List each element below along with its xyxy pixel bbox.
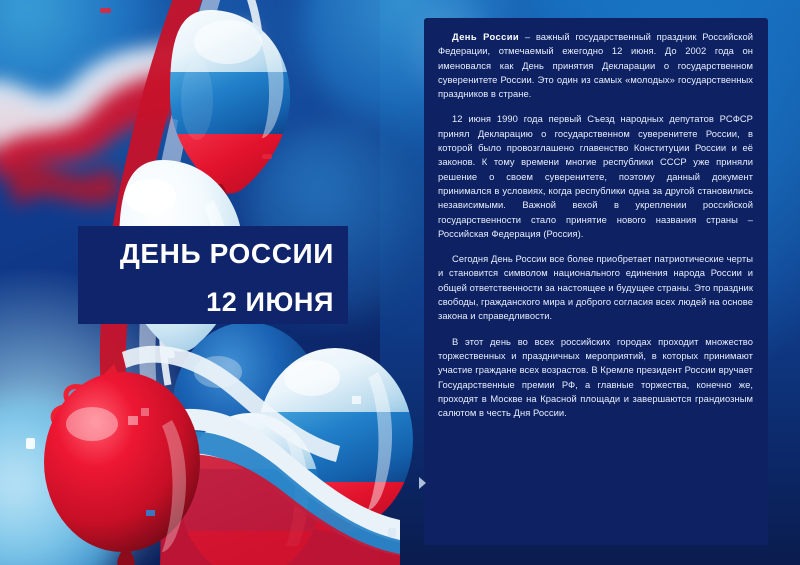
article-panel: День России – важный государственный пра…	[424, 18, 768, 545]
poster-canvas: ДЕНЬ РОССИИ 12 ИЮНЯ День России – важный…	[0, 0, 800, 565]
paragraph-3: Сегодня День России все более приобретае…	[438, 252, 753, 323]
paragraph-2: 12 июня 1990 года первый Съезд народных …	[438, 112, 753, 241]
paragraph-1: День России – важный государственный пра…	[438, 30, 753, 101]
paragraph-4: В этот день во всех российских городах п…	[438, 335, 753, 421]
panel-arrow-marker	[419, 477, 426, 489]
page-title: ДЕНЬ РОССИИ	[78, 226, 348, 269]
paragraph-1-lead: День России	[452, 31, 519, 42]
title-plate: ДЕНЬ РОССИИ 12 ИЮНЯ	[78, 226, 348, 324]
page-subtitle-date: 12 ИЮНЯ	[78, 269, 348, 317]
